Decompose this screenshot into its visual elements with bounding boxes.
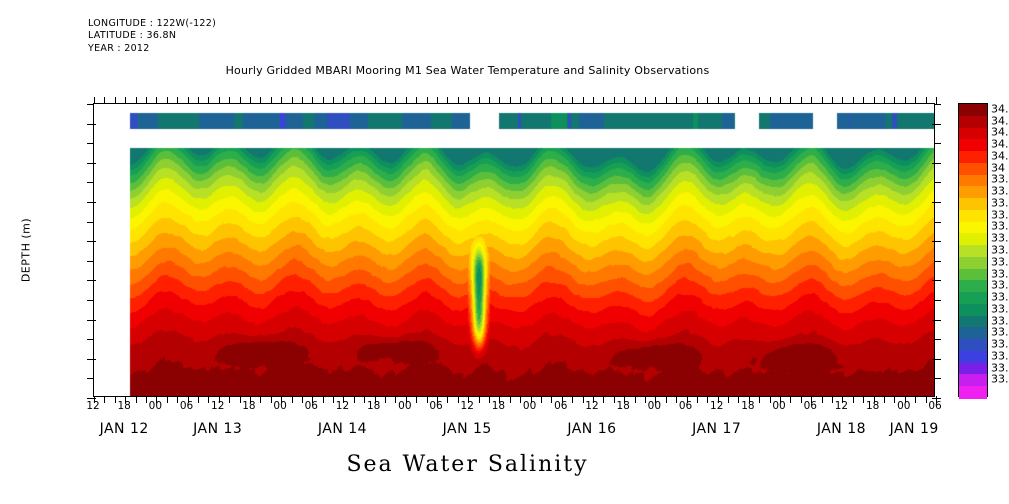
x-hour-label: 06	[429, 400, 442, 412]
x-axis-tick	[188, 97, 189, 104]
y-axis-tick	[87, 359, 96, 360]
x-axis-tick	[260, 396, 261, 403]
x-axis-tick	[323, 97, 324, 104]
colorbar-swatch	[959, 104, 987, 116]
x-axis-tick	[156, 97, 157, 104]
x-axis-tick	[572, 396, 573, 403]
x-axis-tick	[292, 396, 293, 403]
x-axis-tick	[603, 97, 604, 104]
y-axis-tick	[934, 378, 941, 379]
x-axis-tick	[333, 396, 334, 403]
station-metadata: LONGITUDE : 122W(-122) LATITUDE : 36.8N …	[88, 18, 216, 55]
x-hour-label: 00	[897, 400, 910, 412]
x-axis-tick	[572, 97, 573, 104]
x-axis-tick	[915, 97, 916, 104]
x-axis-tick	[208, 396, 209, 403]
x-axis-tick	[219, 97, 220, 104]
x-axis-tick	[770, 396, 771, 403]
x-axis-tick	[406, 97, 407, 104]
x-hour-label: 18	[367, 400, 380, 412]
x-axis-tick	[271, 396, 272, 403]
x-axis-tick	[531, 97, 532, 104]
x-axis-tick	[479, 97, 480, 104]
salinity-field	[94, 104, 934, 396]
x-axis-tick	[520, 97, 521, 104]
x-hour-label: 12	[835, 400, 848, 412]
x-hour-label: 18	[866, 400, 879, 412]
colorbar-swatch	[959, 245, 987, 257]
x-hour-label: 00	[648, 400, 661, 412]
x-hour-label: 06	[679, 400, 692, 412]
x-axis-tick	[853, 97, 854, 104]
x-axis-tick	[292, 97, 293, 104]
x-axis-tick	[874, 97, 875, 104]
x-axis-tick	[697, 396, 698, 403]
x-hour-label: 12	[461, 400, 474, 412]
x-axis-tick	[447, 396, 448, 403]
y-axis-tick	[87, 280, 96, 281]
y-axis-tick	[87, 222, 94, 223]
y-axis-tick	[932, 241, 941, 242]
x-hour-label: 18	[492, 400, 505, 412]
x-hour-label: 18	[117, 400, 130, 412]
x-axis-tick	[842, 97, 843, 104]
x-axis-tick	[104, 97, 105, 104]
colorbar-swatch	[959, 316, 987, 328]
x-axis-tick	[822, 97, 823, 104]
x-axis-tick	[312, 97, 313, 104]
colorbar-swatch	[959, 269, 987, 281]
x-axis-tick	[832, 396, 833, 403]
x-day-label: JAN 18	[817, 421, 866, 437]
x-axis-tick	[926, 97, 927, 104]
colorbar-swatch	[959, 210, 987, 222]
x-axis-tick	[323, 396, 324, 403]
x-day-label: JAN 12	[100, 421, 149, 437]
x-axis-tick	[115, 396, 116, 403]
colorbar-swatch	[959, 339, 987, 351]
x-axis-tick	[645, 396, 646, 403]
y-axis-tick	[87, 163, 96, 164]
x-axis-tick	[718, 97, 719, 104]
y-axis-tick	[87, 320, 96, 321]
x-axis-tick	[614, 396, 615, 403]
x-axis-tick	[884, 396, 885, 403]
y-axis-tick	[934, 300, 941, 301]
y-axis-tick	[934, 339, 941, 340]
x-axis-tick	[489, 396, 490, 403]
x-axis-tick	[770, 97, 771, 104]
x-hour-label: 00	[149, 400, 162, 412]
x-axis-tick	[385, 97, 386, 104]
x-axis-tick	[479, 396, 480, 403]
colorbar-swatch	[959, 351, 987, 363]
y-axis-tick	[934, 182, 941, 183]
x-axis-tick	[510, 97, 511, 104]
x-hour-label: 12	[211, 400, 224, 412]
x-hour-label: 12	[710, 400, 723, 412]
x-axis-tick	[385, 396, 386, 403]
x-axis-tick	[437, 97, 438, 104]
x-axis-tick	[603, 396, 604, 403]
x-axis-tick	[104, 396, 105, 403]
x-hour-label: 18	[741, 400, 754, 412]
x-axis-tick	[863, 396, 864, 403]
x-axis-tick	[125, 97, 126, 104]
colorbar-swatch	[959, 128, 987, 140]
y-axis-tick	[87, 143, 94, 144]
x-axis-tick	[395, 396, 396, 403]
y-axis-tick	[932, 163, 941, 164]
colorbar-swatch	[959, 175, 987, 187]
x-axis-tick	[240, 396, 241, 403]
x-axis-tick	[676, 396, 677, 403]
x-axis-tick	[354, 97, 355, 104]
x-axis-tick	[738, 97, 739, 104]
x-day-label: JAN 19	[890, 421, 939, 437]
x-axis-tick	[541, 97, 542, 104]
x-axis-tick	[676, 97, 677, 104]
colorbar-swatch	[959, 139, 987, 151]
x-axis-tick	[136, 97, 137, 104]
colorbar-swatch	[959, 198, 987, 210]
x-axis-tick	[780, 97, 781, 104]
x-day-label: JAN 17	[692, 421, 741, 437]
x-axis-tick	[884, 97, 885, 104]
y-axis-tick	[934, 143, 941, 144]
x-hour-label: 00	[273, 400, 286, 412]
x-axis-tick	[863, 97, 864, 104]
colorbar-swatch	[959, 304, 987, 316]
x-axis-tick	[635, 97, 636, 104]
x-day-label: JAN 13	[193, 421, 242, 437]
x-day-label: JAN 16	[567, 421, 616, 437]
x-hour-label: 12	[585, 400, 598, 412]
x-axis-tick	[562, 97, 563, 104]
y-axis-tick	[87, 104, 94, 105]
x-axis-tick	[645, 97, 646, 104]
x-axis-tick	[208, 97, 209, 104]
y-axis-tick	[932, 359, 941, 360]
x-axis-tick	[905, 97, 906, 104]
colorbar	[958, 103, 988, 397]
colorbar-swatch	[959, 151, 987, 163]
y-axis-tick	[932, 280, 941, 281]
salinity-canvas	[94, 104, 934, 396]
y-axis-tick	[932, 320, 941, 321]
x-axis-tick	[302, 396, 303, 403]
x-axis-tick	[541, 396, 542, 403]
x-axis-tick	[666, 396, 667, 403]
colorbar-swatch	[959, 233, 987, 245]
x-hour-label: 18	[242, 400, 255, 412]
x-axis-tick	[229, 97, 230, 104]
y-axis-tick	[87, 202, 96, 203]
x-axis-tick	[447, 97, 448, 104]
x-axis-tick	[198, 97, 199, 104]
x-axis-tick	[271, 97, 272, 104]
x-axis-tick	[801, 97, 802, 104]
colorbar-swatch	[959, 222, 987, 234]
x-axis-tick	[738, 396, 739, 403]
x-axis-tick	[177, 97, 178, 104]
x-axis-tick	[364, 396, 365, 403]
latitude-line: LATITUDE : 36.8N	[88, 30, 176, 41]
colorbar-swatch	[959, 280, 987, 292]
x-axis-tick	[416, 97, 417, 104]
x-axis-tick	[583, 97, 584, 104]
plot-caption: Sea Water Salinity	[0, 452, 935, 477]
x-axis-tick	[728, 97, 729, 104]
x-axis-tick	[489, 97, 490, 104]
x-axis-tick	[853, 396, 854, 403]
y-axis-tick	[934, 261, 941, 262]
x-axis-tick	[343, 97, 344, 104]
year-line: YEAR : 2012	[88, 43, 150, 54]
x-axis-tick	[801, 396, 802, 403]
colorbar-label: 33.1	[991, 373, 1009, 386]
x-axis-tick	[395, 97, 396, 104]
x-axis-tick	[811, 97, 812, 104]
x-axis-tick	[583, 396, 584, 403]
colorbar-swatch	[959, 292, 987, 304]
y-axis-tick	[932, 124, 941, 125]
x-axis-tick	[520, 396, 521, 403]
longitude-line: LONGITUDE : 122W(-122)	[88, 18, 216, 29]
x-axis-tick	[687, 97, 688, 104]
chart-title: Hourly Gridded MBARI Mooring M1 Sea Wate…	[0, 64, 935, 77]
colorbar-swatch	[959, 163, 987, 175]
colorbar-swatch	[959, 186, 987, 198]
x-day-label: JAN 15	[443, 421, 492, 437]
y-axis-tick	[87, 339, 94, 340]
x-axis-tick	[302, 97, 303, 104]
x-axis-tick	[759, 97, 760, 104]
x-axis-tick	[728, 396, 729, 403]
y-axis-tick	[87, 261, 94, 262]
colorbar-swatch	[959, 374, 987, 386]
x-axis-tick	[790, 396, 791, 403]
x-axis-tick	[354, 396, 355, 403]
x-day-label: JAN 14	[318, 421, 367, 437]
x-axis-tick	[250, 97, 251, 104]
x-axis-tick	[635, 396, 636, 403]
x-axis-tick	[832, 97, 833, 104]
x-axis-tick	[697, 97, 698, 104]
y-axis-tick	[934, 222, 941, 223]
x-axis-tick	[915, 396, 916, 403]
y-axis-tick	[87, 241, 96, 242]
x-axis-tick	[333, 97, 334, 104]
x-axis-tick	[936, 97, 937, 104]
colorbar-swatch	[959, 386, 987, 398]
x-axis-tick	[167, 97, 168, 104]
x-axis-tick	[624, 97, 625, 104]
x-axis-tick	[707, 396, 708, 403]
y-axis-labels: 2060100140180220260300	[0, 0, 93, 504]
x-axis-tick	[136, 396, 137, 403]
x-hour-label: 00	[772, 400, 785, 412]
y-axis-tick	[932, 202, 941, 203]
x-axis-tick	[499, 97, 500, 104]
x-axis-tick	[146, 396, 147, 403]
x-axis-tick	[177, 396, 178, 403]
x-axis-tick	[614, 97, 615, 104]
x-axis-tick	[427, 97, 428, 104]
y-axis-tick	[87, 182, 94, 183]
y-axis-tick	[934, 104, 941, 105]
x-axis-tick	[115, 97, 116, 104]
contour-plot[interactable]	[93, 103, 935, 397]
x-axis-tick	[666, 97, 667, 104]
x-hour-label: 06	[804, 400, 817, 412]
x-axis-tick	[749, 97, 750, 104]
x-axis-tick	[364, 97, 365, 104]
y-axis-tick	[87, 124, 96, 125]
x-axis-tick	[790, 97, 791, 104]
x-axis-tick	[198, 396, 199, 403]
x-axis-tick	[510, 396, 511, 403]
x-hour-label: 00	[523, 400, 536, 412]
x-hour-label: 12	[336, 400, 349, 412]
x-axis-tick	[427, 396, 428, 403]
colorbar-swatch	[959, 116, 987, 128]
x-axis-tick	[894, 97, 895, 104]
x-axis-tick	[240, 97, 241, 104]
x-hour-label: 06	[554, 400, 567, 412]
colorbar-swatch	[959, 257, 987, 269]
x-axis-tick	[655, 97, 656, 104]
x-axis-tick	[416, 396, 417, 403]
x-axis-tick	[167, 396, 168, 403]
x-axis-tick	[458, 396, 459, 403]
x-hour-label: 06	[928, 400, 941, 412]
x-axis-tick	[94, 97, 95, 104]
x-axis-tick	[146, 97, 147, 104]
x-axis-tick	[926, 396, 927, 403]
colorbar-swatch	[959, 327, 987, 339]
x-axis-tick	[551, 396, 552, 403]
x-axis-tick	[551, 97, 552, 104]
x-axis-tick	[260, 97, 261, 104]
x-axis-tick	[375, 97, 376, 104]
x-axis-tick	[281, 97, 282, 104]
colorbar-swatch	[959, 363, 987, 375]
x-hour-label: 12	[86, 400, 99, 412]
y-axis-title: DEPTH (m)	[20, 218, 33, 282]
x-hour-label: 06	[180, 400, 193, 412]
x-axis-tick	[468, 97, 469, 104]
x-axis-tick	[894, 396, 895, 403]
x-hour-label: 18	[616, 400, 629, 412]
x-hour-label: 00	[398, 400, 411, 412]
x-axis-tick	[593, 97, 594, 104]
x-axis-tick	[229, 396, 230, 403]
x-hour-label: 06	[305, 400, 318, 412]
y-axis-tick	[87, 378, 94, 379]
x-axis-tick	[458, 97, 459, 104]
y-axis-tick	[87, 300, 94, 301]
x-axis-tick	[822, 396, 823, 403]
x-axis-tick	[759, 396, 760, 403]
x-axis-tick	[707, 97, 708, 104]
